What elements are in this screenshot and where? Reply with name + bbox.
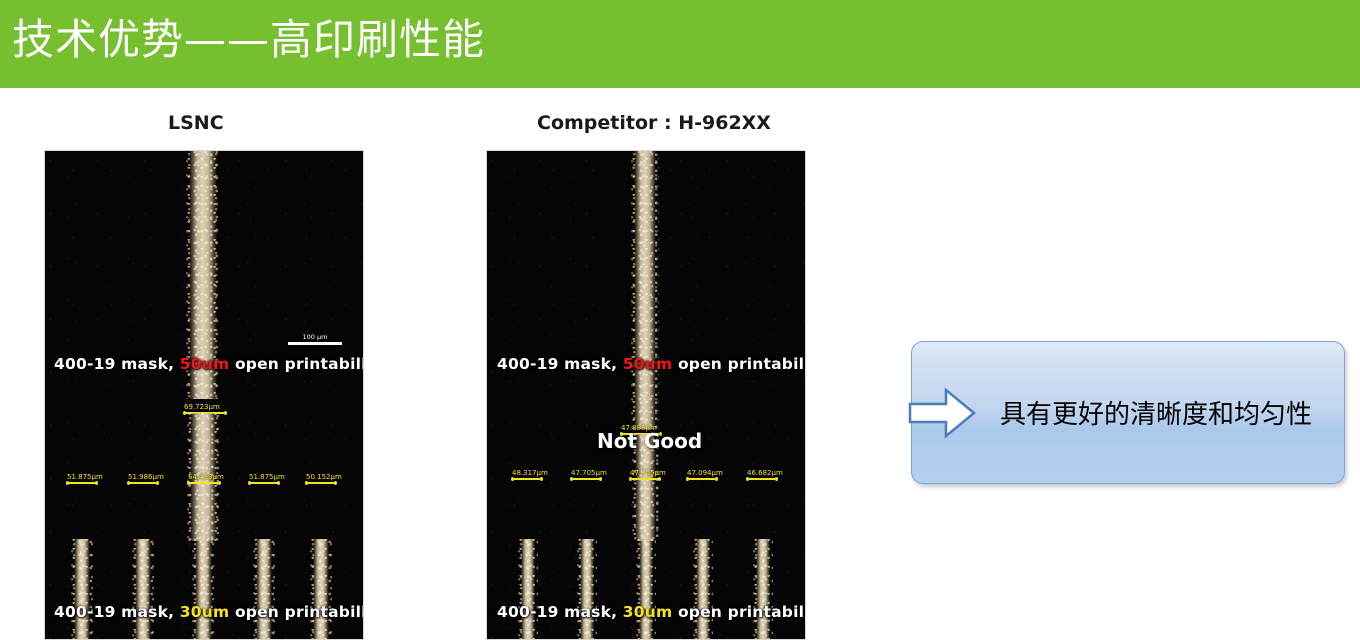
trace-bottom-competitor-3 xyxy=(639,539,653,640)
overlay-caption-bottom-lsnc: 400-19 mask, 30um open printability xyxy=(54,603,364,621)
caption-prefix: 400-19 mask, xyxy=(54,355,180,373)
measurement-bar xyxy=(67,482,97,484)
micrograph-lsnc: 69.723µm 51.875µm 51.986µm 54.433µm 51.8… xyxy=(44,150,364,640)
trace-bottom-lsnc-4 xyxy=(256,539,272,640)
measurement-bar xyxy=(687,478,717,480)
measurement-bottom-competitor-4: 47.094µm xyxy=(687,469,717,480)
measurement-value: 47.094µm xyxy=(687,469,723,477)
measurement-bottom-lsnc-5: 50.152µm xyxy=(306,473,336,484)
caption-suffix: open printability xyxy=(229,355,364,373)
trace-bottom-lsnc-1 xyxy=(74,539,90,640)
measurement-bar xyxy=(249,482,279,484)
measurement-bottom-lsnc-4: 51.875µm xyxy=(249,473,279,484)
overlay-caption-bottom-competitor: 400-19 mask, 30um open printability xyxy=(497,603,806,621)
overlay-caption-top-lsnc: 400-19 mask, 50um open printability xyxy=(54,355,364,373)
trace-bottom-lsnc-2 xyxy=(135,539,151,640)
measurement-value: 51.875µm xyxy=(249,473,285,481)
measurement-bottom-competitor-5: 46.682µm xyxy=(747,469,777,480)
verdict-label: Not Good xyxy=(597,429,702,453)
measurement-bottom-lsnc-1: 51.875µm xyxy=(67,473,97,484)
measurement-value: 50.152µm xyxy=(306,473,342,481)
scale-bar: 100 µm xyxy=(288,333,342,345)
measurement-value: 69.723µm xyxy=(184,403,220,411)
caption-highlight: 30um xyxy=(623,603,673,621)
measurement-bottom-competitor-1: 48.317µm xyxy=(512,469,542,480)
caption-suffix: open printability xyxy=(672,603,806,621)
measurement-value: 51.875µm xyxy=(67,473,103,481)
measurement-value: 48.317µm xyxy=(512,469,548,477)
trace-bottom-lsnc-3 xyxy=(195,539,212,640)
scale-bar-label: 100 µm xyxy=(303,333,328,341)
caption-prefix: 400-19 mask, xyxy=(497,603,623,621)
right-arrow-icon xyxy=(906,382,978,444)
measurement-bottom-lsnc-2: 51.986µm xyxy=(128,473,158,484)
trace-bottom-lsnc-5 xyxy=(313,539,329,640)
caption-prefix: 400-19 mask, xyxy=(54,603,180,621)
trace-top-competitor xyxy=(634,150,656,429)
measurement-bar xyxy=(630,478,660,480)
measurement-value: 47.705µm xyxy=(630,469,666,477)
measurement-bar xyxy=(571,478,601,480)
caption-prefix: 400-19 mask, xyxy=(497,355,623,373)
measurement-bottom-competitor-2: 47.705µm xyxy=(571,469,601,480)
caption-suffix: open printability xyxy=(672,355,806,373)
caption-highlight: 50um xyxy=(623,355,673,373)
micrograph-competitor: 47.888µm 48.317µm 47.705µm 47.705µm 47.0… xyxy=(486,150,806,640)
panel-caption-competitor: Competitor : H-962XX xyxy=(537,112,771,134)
panel-caption-lsnc: LSNC xyxy=(168,112,224,134)
slide-title-banner: 技术优势——高印刷性能 xyxy=(0,0,1360,88)
trace-bottom-competitor-1 xyxy=(521,539,535,640)
trace-bottom-competitor-5 xyxy=(756,539,770,640)
caption-suffix: open printability xyxy=(229,603,364,621)
trace-bottom-competitor-2 xyxy=(580,539,594,640)
conclusion-callout-box: 具有更好的清晰度和均匀性 xyxy=(911,341,1345,484)
measurement-value: 47.705µm xyxy=(571,469,607,477)
scale-bar-rule xyxy=(288,342,342,345)
measurement-bar xyxy=(128,482,158,484)
measurement-bottom-lsnc-3: 54.433µm xyxy=(188,473,220,484)
measurement-value: 51.986µm xyxy=(128,473,164,481)
measurement-bar xyxy=(747,478,777,480)
measurement-value: 54.433µm xyxy=(188,473,224,481)
conclusion-text: 具有更好的清晰度和均匀性 xyxy=(978,394,1344,431)
measurement-bar xyxy=(306,482,336,484)
measurement-bar xyxy=(188,482,220,484)
page-title: 技术优势——高印刷性能 xyxy=(12,8,485,72)
measurement-bar xyxy=(512,478,542,480)
overlay-caption-top-competitor: 400-19 mask, 50um open printability xyxy=(497,355,806,373)
caption-highlight: 50um xyxy=(180,355,230,373)
trace-bottom-competitor-4 xyxy=(696,539,710,640)
measurement-value: 46.682µm xyxy=(747,469,783,477)
measurement-bottom-competitor-3: 47.705µm xyxy=(630,469,660,480)
caption-highlight: 30um xyxy=(180,603,230,621)
